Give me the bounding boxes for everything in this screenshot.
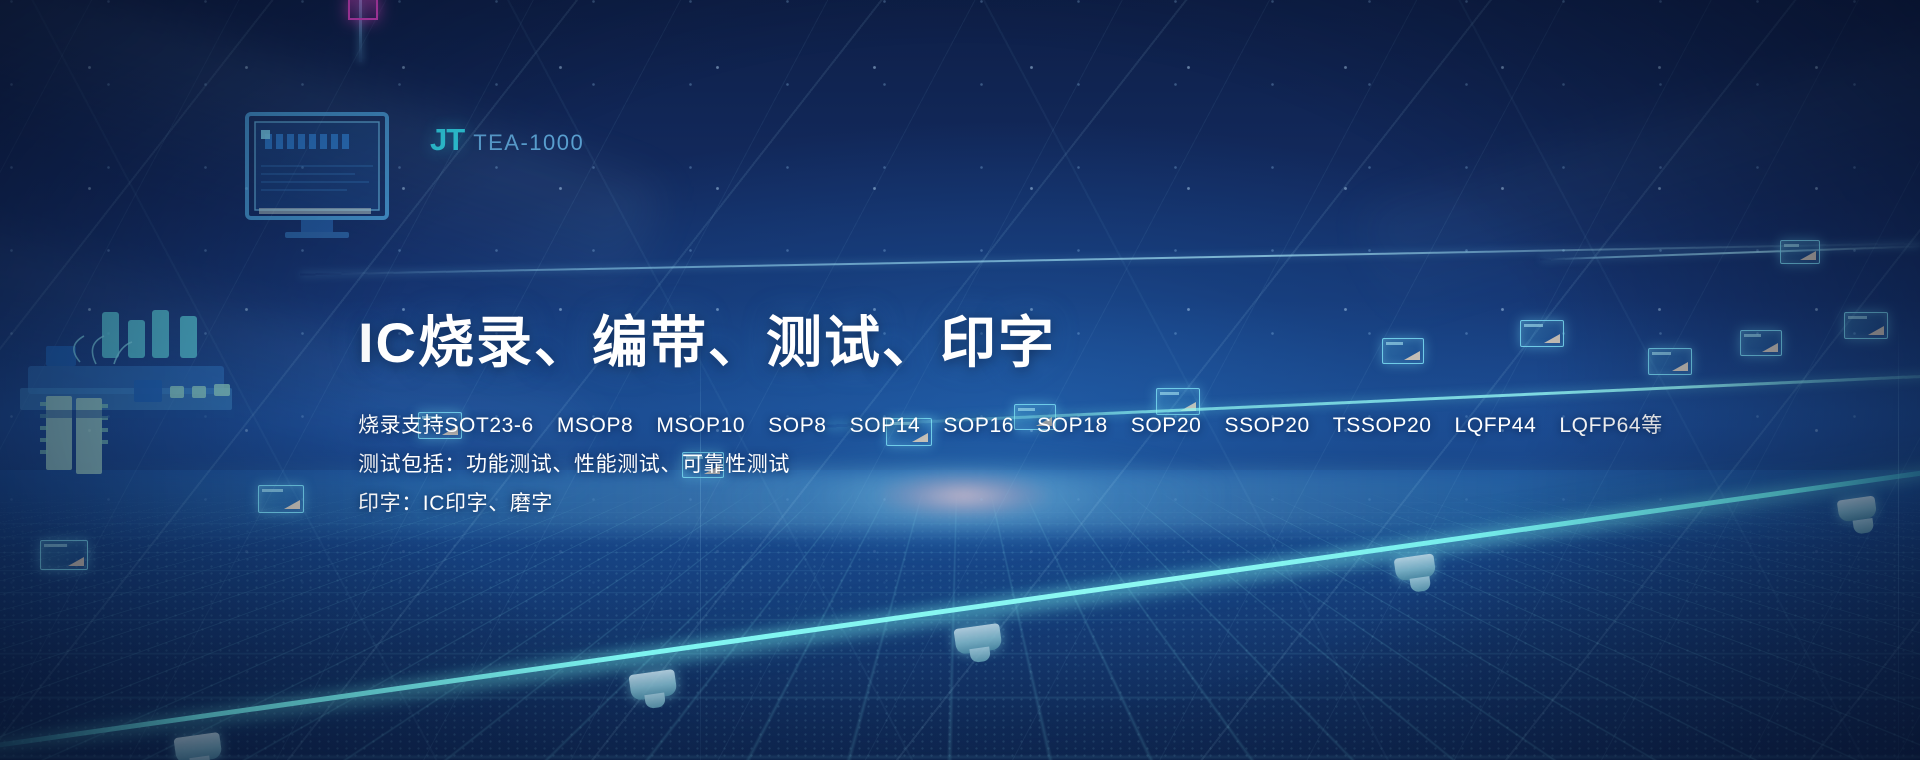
light-beam-upper-right (1359, 0, 1920, 337)
ic-chip-icon (1844, 312, 1888, 339)
hero-content: IC烧录、编带、测试、印字 烧录支持SOT23-6MSOP8MSOP10SOP8… (358, 310, 1558, 523)
ic-chip-icon (258, 485, 304, 513)
package-chip: TSSOP20 (1333, 406, 1432, 445)
package-chip: SSOP20 (1224, 406, 1309, 445)
ic-chip-icon (1740, 330, 1782, 356)
hero-banner: JT TEA-1000 IC烧录、编带、测试、印字 烧录支持SOT23-6MSO… (0, 0, 1920, 760)
ic-chip-icon (40, 540, 88, 570)
page-title: IC烧录、编带、测试、印字 (358, 310, 1558, 376)
hero-subtitle-group: 烧录支持SOT23-6MSOP8MSOP10SOP8SOP14SOP16SOP1… (358, 406, 1558, 523)
package-support-line: 烧录支持SOT23-6MSOP8MSOP10SOP8SOP14SOP16SOP1… (358, 406, 1558, 445)
burn-in-machine-icon (10, 270, 270, 500)
package-chip: MSOP8 (557, 406, 634, 445)
package-chip: SOP20 (1131, 406, 1202, 445)
brand-model-text: TEA-1000 (473, 130, 584, 156)
package-chip: SOP8 (768, 406, 826, 445)
vertical-guide-line-right (1898, 320, 1899, 760)
brand-mark-text: JT (430, 122, 464, 158)
package-chip: SOP18 (1037, 406, 1108, 445)
package-chip: SOP14 (850, 406, 921, 445)
pendant-magenta-head-icon (348, 0, 378, 20)
package-chip: LQFP44 (1455, 406, 1537, 445)
test-scope-line: 测试包括：功能测试、性能测试、可靠性测试 (358, 445, 1558, 484)
package-chip: LQFP64等 (1559, 406, 1662, 445)
rail-carriage (1837, 495, 1878, 522)
equipment-brand-lockup: JT TEA-1000 (430, 122, 584, 158)
marking-scope-line: 印字：IC印字、磨字 (358, 484, 1558, 523)
ic-chip-icon (1648, 348, 1692, 375)
monitor-display-icon (243, 108, 393, 243)
ic-chip-icon (1780, 240, 1820, 264)
package-chip: SOP16 (943, 406, 1014, 445)
package-chip: MSOP10 (656, 406, 745, 445)
burn-support-prefix: 烧录支持SOT23-6 (358, 406, 534, 445)
